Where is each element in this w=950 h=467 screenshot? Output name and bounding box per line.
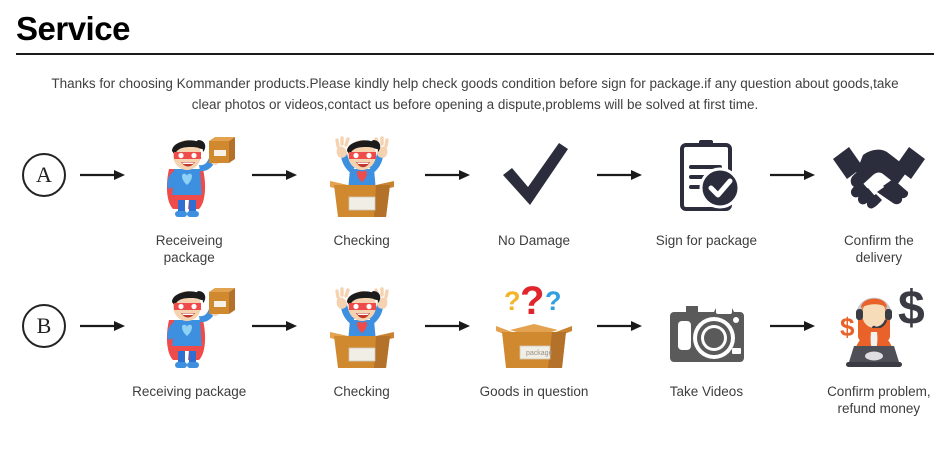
step-label: Take Videos (670, 383, 743, 400)
step-b-5: $ $ (822, 280, 936, 417)
step-label: Confirm the delivery (822, 232, 936, 266)
arrow-icon (419, 129, 477, 221)
arrow-icon (246, 129, 304, 221)
step-a-2: Checking (304, 129, 418, 249)
step-a-4: Sign for package (649, 129, 763, 249)
arrow-icon (764, 129, 822, 221)
page-title: Service (16, 10, 950, 48)
flow-row-b: B (0, 280, 950, 417)
svg-text:package: package (526, 350, 553, 357)
arrow-icon (591, 129, 649, 221)
row-badge-a: A (14, 129, 74, 221)
arrow-icon (74, 129, 132, 221)
person-in-open-box-icon (304, 280, 418, 372)
question-box-icon: ? ? ? package (477, 280, 591, 372)
step-b-2: Checking (304, 280, 418, 400)
step-label: No Damage (498, 232, 570, 249)
arrow-icon (74, 280, 132, 372)
camera-icon (649, 280, 763, 372)
step-label: Receiving package (132, 383, 246, 400)
flow-row-a: A (0, 129, 950, 266)
hero-with-package-icon (132, 129, 246, 221)
step-label: Goods in question (480, 383, 589, 400)
svg-text:$: $ (840, 312, 855, 342)
hero-with-package-icon (132, 280, 246, 372)
svg-text:?: ? (545, 286, 562, 316)
step-a-3: No Damage (477, 129, 591, 249)
arrow-icon (591, 280, 649, 372)
step-b-3: ? ? ? package Goods in question (477, 280, 591, 400)
svg-text:?: ? (504, 286, 521, 316)
arrow-icon (419, 280, 477, 372)
person-in-open-box-icon (304, 129, 418, 221)
support-agent-dollar-icon: $ $ (822, 280, 936, 372)
step-label: Checking (333, 232, 389, 249)
step-label: Receiveing package (132, 232, 246, 266)
header: Service (0, 0, 950, 48)
row-badge-b-letter: B (22, 304, 66, 348)
handshake-icon (822, 129, 936, 221)
service-panel: Service Thanks for choosing Kommander pr… (0, 0, 950, 467)
step-label: Confirm problem, refund money (827, 383, 931, 417)
intro-paragraph: Thanks for choosing Kommander products.P… (35, 73, 915, 115)
svg-text:$: $ (898, 282, 925, 335)
step-a-5: Confirm the delivery (822, 129, 936, 266)
step-b-1: Receiving package (132, 280, 246, 400)
svg-text:?: ? (520, 280, 544, 323)
step-label: Checking (333, 383, 389, 400)
step-b-4: Take Videos (649, 280, 763, 400)
arrow-icon (246, 280, 304, 372)
arrow-icon (764, 280, 822, 372)
row-badge-a-letter: A (22, 153, 66, 197)
title-divider (16, 53, 934, 55)
step-label: Sign for package (656, 232, 757, 249)
step-a-1: Receiveing package (132, 129, 246, 266)
row-badge-b: B (14, 280, 74, 372)
checkmark-icon (477, 129, 591, 221)
clipboard-check-icon (649, 129, 763, 221)
